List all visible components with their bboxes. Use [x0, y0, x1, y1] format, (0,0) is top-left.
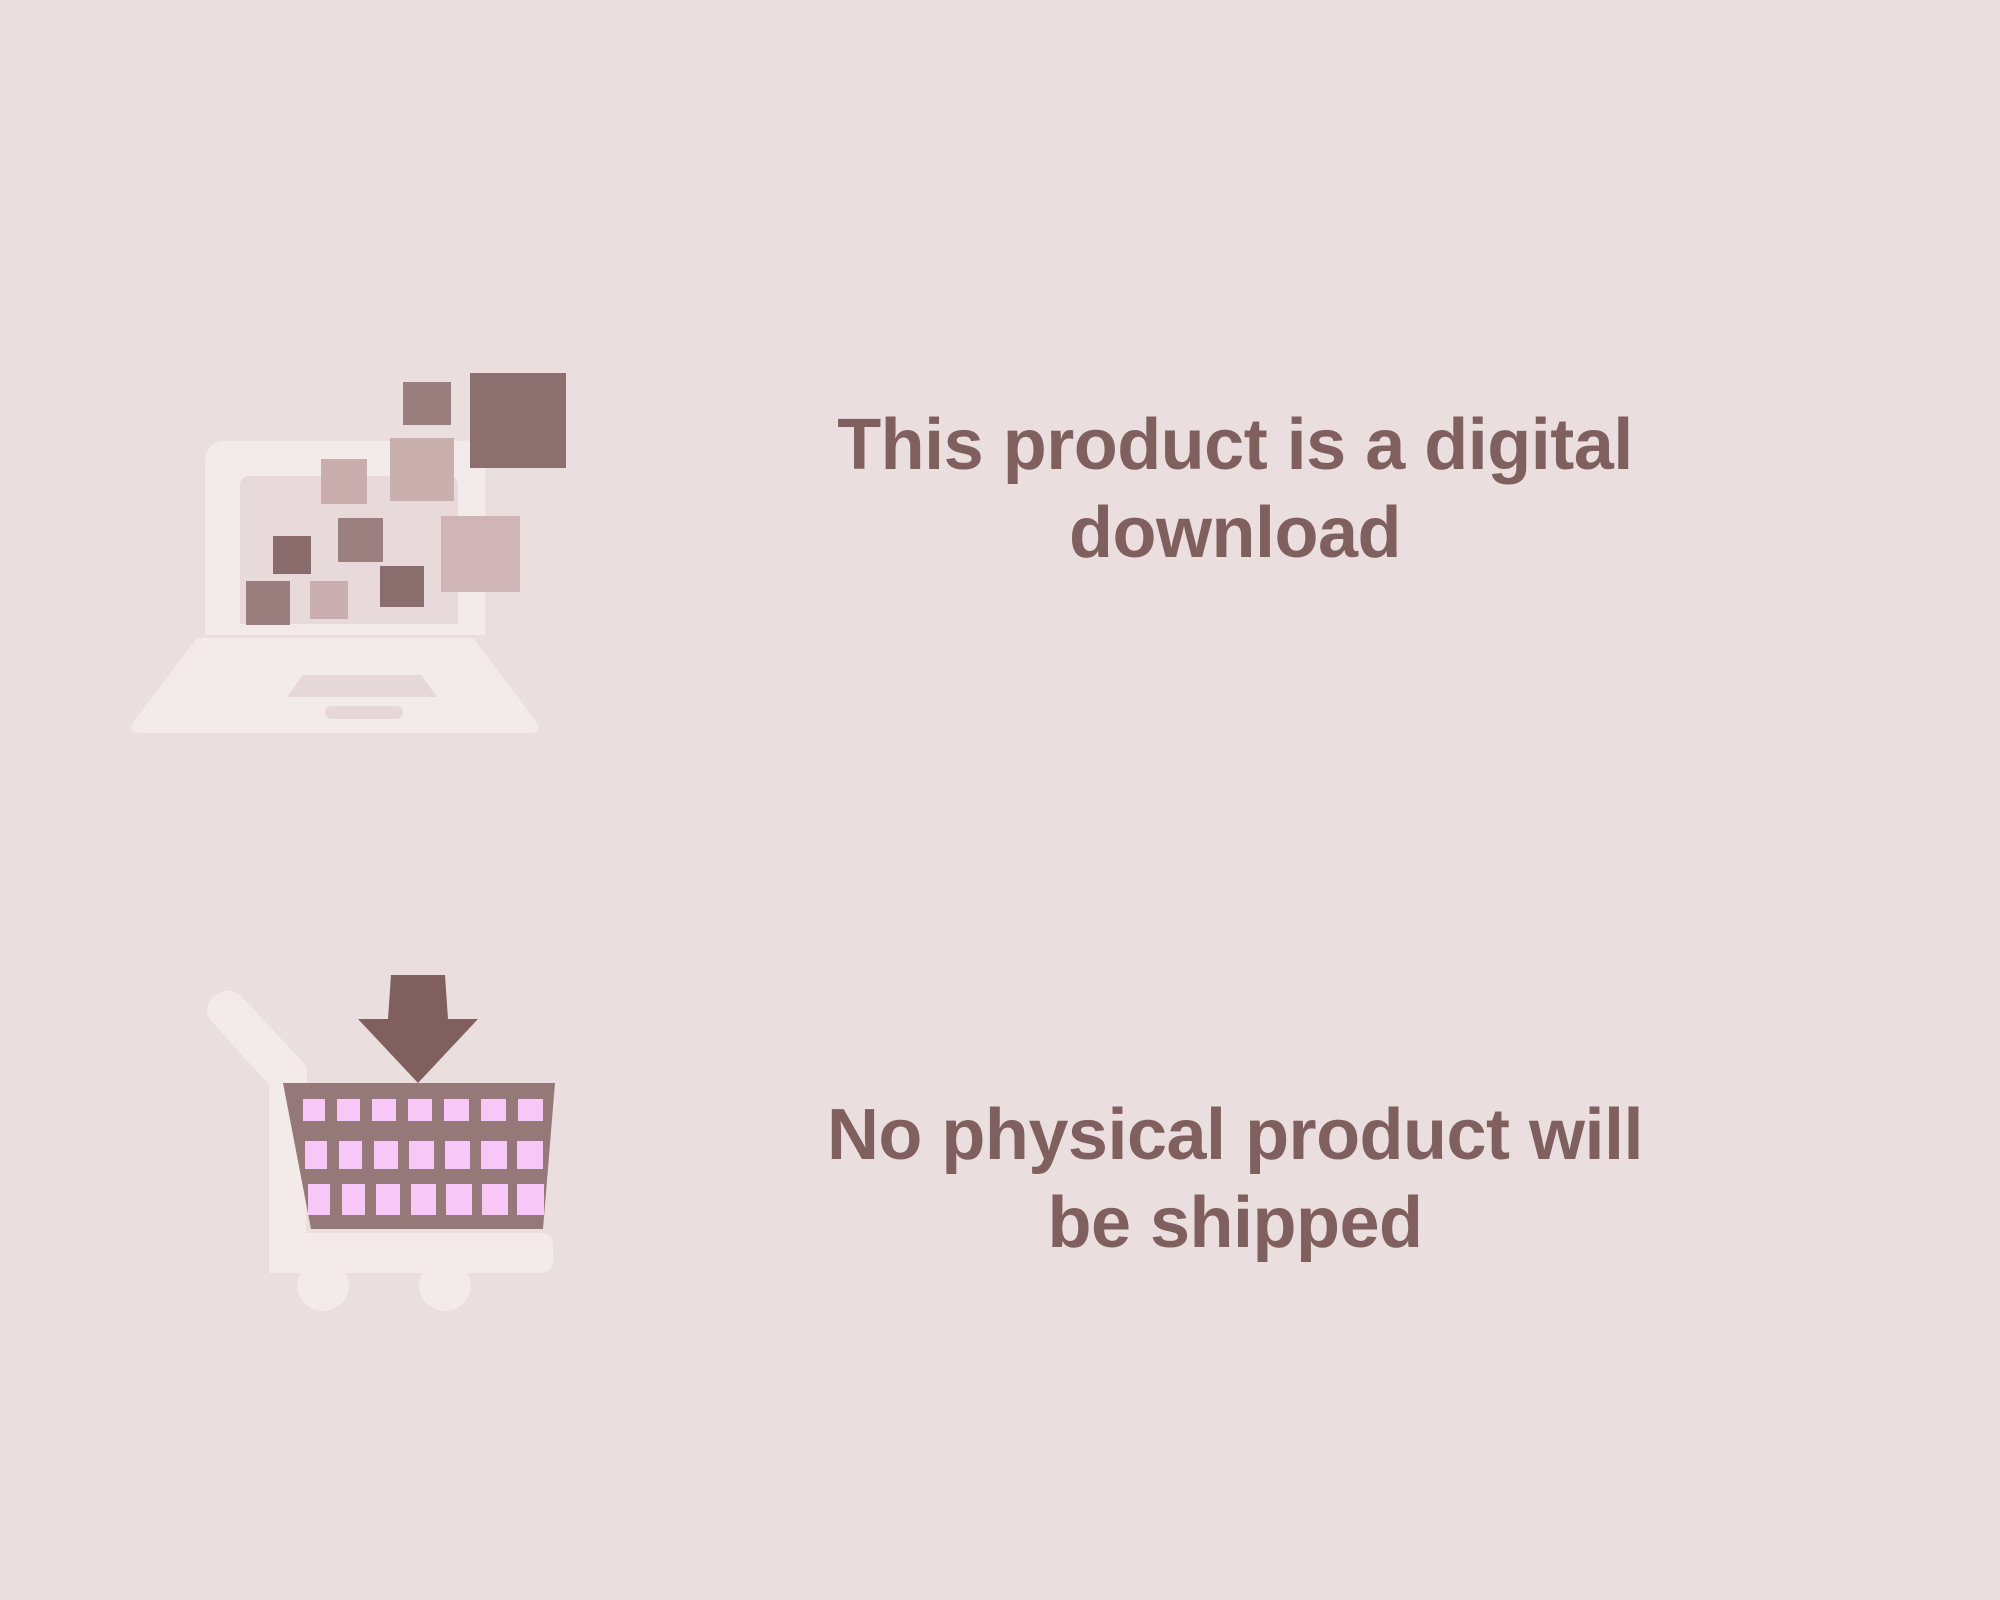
no-physical-product-message: No physical product will be shipped: [620, 1092, 1850, 1268]
digital-download-row: This product is a digital download: [0, 240, 2000, 740]
digital-download-icon-cell: [0, 255, 620, 725]
shopping-cart-with-down-arrow-icon: [195, 975, 645, 1335]
no-physical-product-row: No physical product will be shipped: [0, 930, 2000, 1430]
digital-download-text-cell: This product is a digital download: [620, 402, 2000, 578]
download-arrow-icon: [358, 975, 478, 1083]
promo-graphic: This product is a digital download: [0, 0, 2000, 1600]
no-physical-product-text-cell: No physical product will be shipped: [620, 1092, 2000, 1268]
laptop-with-floating-pixels-icon: [185, 355, 685, 715]
no-physical-product-icon-cell: [0, 945, 620, 1415]
digital-download-message: This product is a digital download: [620, 402, 1850, 578]
